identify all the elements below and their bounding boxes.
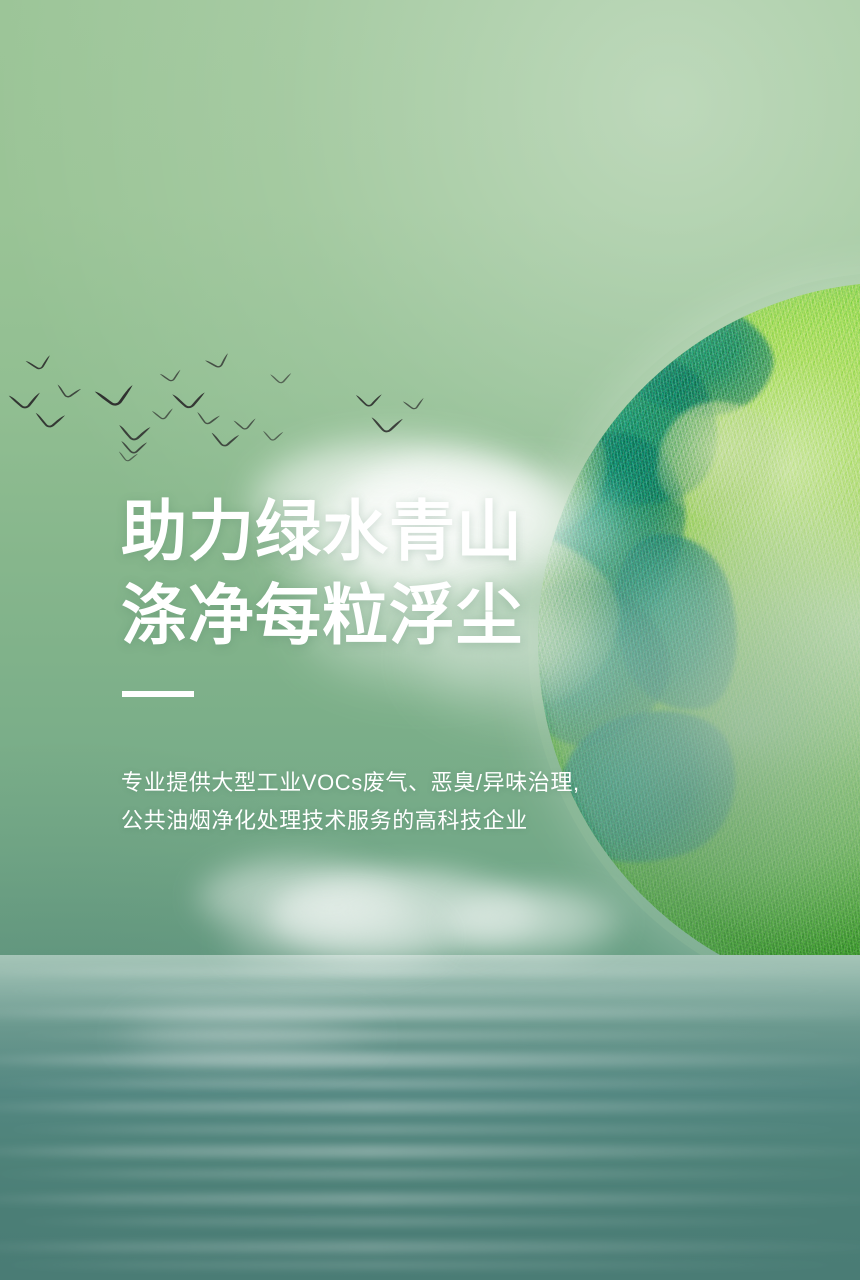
headline-line-1: 助力绿水青山 [121,489,523,573]
page-title: 助力绿水青山 涤净每粒浮尘 [121,489,523,657]
subtitle-line-1: 专业提供大型工业VOCs废气、恶臭/异味治理, [121,764,580,802]
headline-line-2: 涤净每粒浮尘 [121,573,523,657]
title-divider [122,691,194,697]
hero-content: 助力绿水青山 涤净每粒浮尘 专业提供大型工业VOCs废气、恶臭/异味治理, 公共… [121,0,741,1280]
hero-subtitle: 专业提供大型工业VOCs废气、恶臭/异味治理, 公共油烟净化处理技术服务的高科技… [121,764,580,840]
subtitle-line-2: 公共油烟净化处理技术服务的高科技企业 [121,802,580,840]
hero-banner: 助力绿水青山 涤净每粒浮尘 专业提供大型工业VOCs废气、恶臭/异味治理, 公共… [0,0,860,1280]
